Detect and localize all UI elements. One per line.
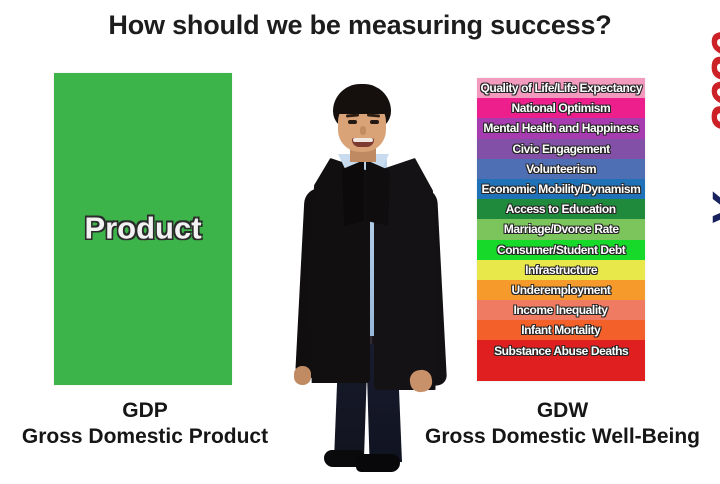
gdp-caption: GDP Gross Domestic Product — [0, 398, 290, 450]
gdw-segment-label: Volunteerism — [526, 162, 596, 176]
gdw-segment-label: Quality of Life/Life Expectancy — [480, 81, 641, 95]
gdw-segment: Volunteerism — [477, 159, 645, 179]
photo-lapel-left — [342, 160, 364, 226]
photo-eye-left — [348, 120, 357, 124]
meme-canvas: How should we be measuring success? Prod… — [0, 0, 720, 484]
gdw-full-name: Gross Domestic Well-Being — [410, 424, 715, 450]
gdw-segment-label: Access to Education — [506, 202, 616, 216]
gdp-bar-label: Product — [54, 210, 232, 246]
gdw-segment-label: Economic Mobility/Dynamism — [482, 182, 641, 196]
gdw-segment-label: Mental Health and Happiness — [483, 121, 638, 135]
gdw-segment: Infant Mortality — [477, 320, 645, 340]
gdp-abbr: GDP — [0, 398, 290, 424]
gdw-segment-label: Infrastructure — [525, 263, 597, 277]
gdw-segment-label: Consumer/Student Debt — [497, 243, 625, 257]
gdp-full-name: Gross Domestic Product — [0, 424, 290, 450]
gdw-segment-label: Marriage/Dvorce Rate — [504, 222, 619, 236]
gdw-segment: Underemployment — [477, 280, 645, 300]
gdw-segment-label: National Optimism — [512, 101, 611, 115]
yang-2020-logo: Yang 2020 — [701, 11, 720, 251]
gdw-segment: Access to Education — [477, 199, 645, 219]
logo-name-text: Yang — [703, 119, 720, 227]
gdw-segment-label: Income Inequality — [514, 303, 608, 317]
gdw-segment-label: Underemployment — [512, 283, 611, 297]
gdw-segment: Infrastructure — [477, 260, 645, 280]
gdw-segment: Substance Abuse Deaths — [477, 340, 645, 360]
gdw-segment: National Optimism — [477, 98, 645, 118]
gdw-segment: Marriage/Dvorce Rate — [477, 219, 645, 239]
gdp-bar: Product — [54, 73, 232, 385]
photo-left-hand — [294, 366, 311, 385]
gdw-segment: Civic Engagement — [477, 139, 645, 159]
photo-lapel-right — [366, 160, 390, 226]
gdw-segment: Consumer/Student Debt — [477, 240, 645, 260]
photo-right-shoe — [356, 454, 400, 472]
gdw-segment-label: Substance Abuse Deaths — [494, 344, 628, 358]
photo-teeth — [353, 138, 373, 142]
photo-eye-right — [370, 120, 379, 124]
gdw-segment: Economic Mobility/Dynamism — [477, 179, 645, 199]
gdw-segment: Mental Health and Happiness — [477, 118, 645, 138]
gdw-segment-label: Infant Mortality — [521, 323, 600, 337]
gdw-stacked-bar: Quality of Life/Life ExpectancyNational … — [477, 78, 645, 381]
gdw-abbr: GDW — [410, 398, 715, 424]
page-title: How should we be measuring success? — [0, 10, 720, 41]
gdw-segment-label: Civic Engagement — [512, 142, 609, 156]
gdw-segment: Quality of Life/Life Expectancy — [477, 78, 645, 98]
gdw-segment: Income Inequality — [477, 300, 645, 320]
logo-year-text: 2020 — [702, 34, 720, 133]
gdw-caption: GDW Gross Domestic Well-Being — [410, 398, 715, 450]
photo-nose — [360, 126, 366, 135]
gdw-segment — [477, 361, 645, 381]
photo-hair-fringe — [334, 94, 390, 114]
